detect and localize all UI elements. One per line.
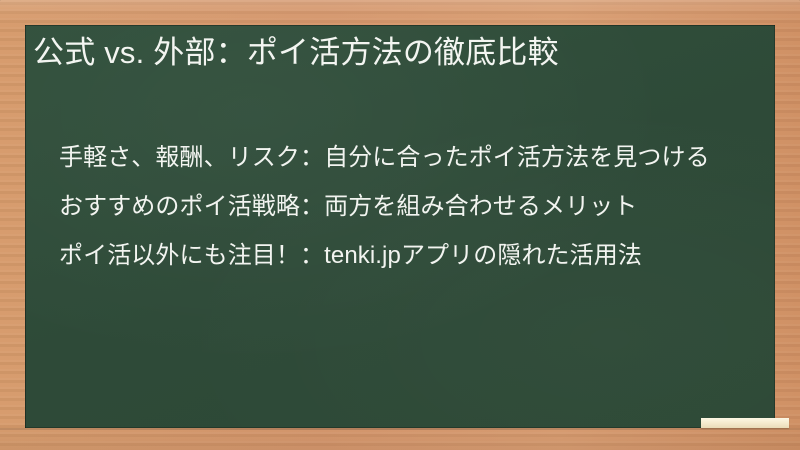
chalk-stick-icon: [701, 418, 789, 428]
table-of-contents: 手軽さ、報酬、リスク：自分に合ったポイ活方法を見つける おすすめのポイ活戦略：両…: [59, 140, 749, 273]
chalkboard-surface: 公式 vs. 外部：ポイ活方法の徹底比較 手軽さ、報酬、リスク：自分に合ったポイ…: [25, 25, 775, 428]
list-item[interactable]: 手軽さ、報酬、リスク：自分に合ったポイ活方法を見つける: [59, 140, 749, 175]
list-item[interactable]: ポイ活以外にも注目！：tenki.jpアプリの隠れた活用法: [59, 238, 749, 273]
board-ledge-shadow: [0, 428, 800, 430]
list-item[interactable]: おすすめのポイ活戦略：両方を組み合わせるメリット: [59, 189, 749, 224]
chalkboard-slide: 公式 vs. 外部：ポイ活方法の徹底比較 手軽さ、報酬、リスク：自分に合ったポイ…: [0, 0, 800, 450]
page-title: 公式 vs. 外部：ポイ活方法の徹底比較: [33, 31, 751, 75]
